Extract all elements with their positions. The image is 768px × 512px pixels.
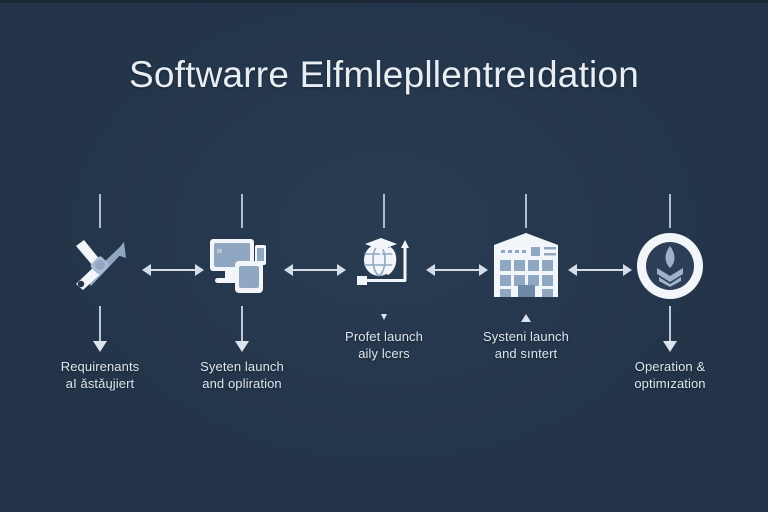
- leaf-badge-icon: [628, 228, 712, 304]
- flow-node-label: Systeni launch and sıntert: [450, 328, 602, 362]
- label-line-2: and opliration: [166, 375, 318, 392]
- node-tick-up: [525, 194, 527, 228]
- label-line-2: aI ǎstǎųjiert: [24, 375, 176, 392]
- label-line-1: Syeten launch: [200, 359, 284, 374]
- label-line-1: Operation &: [635, 359, 705, 374]
- node-tick-up: [241, 194, 243, 228]
- label-line-1: Systeni launch: [483, 329, 569, 344]
- arrow-down-head-icon: [235, 341, 249, 352]
- flow-node-label: Profet launch aily lcers: [308, 328, 460, 362]
- process-flow: Requirenants aI ǎstǎųjiert: [0, 186, 768, 436]
- crossed-tools-icon: [58, 228, 142, 304]
- label-line-2: optimızation: [594, 375, 746, 392]
- flow-node-requirements[interactable]: Requirenants aI ǎstǎųjiert: [30, 186, 170, 436]
- arrow-down-head-icon: [663, 341, 677, 352]
- arrow-up-head-icon: [521, 314, 531, 322]
- node-tick-down: [241, 306, 243, 344]
- office-building-icon: [484, 228, 568, 304]
- label-line-2: aily lcers: [308, 345, 460, 362]
- node-tick-down: [99, 306, 101, 344]
- node-tick-up: [383, 194, 385, 228]
- label-line-2: and sıntert: [450, 345, 602, 362]
- node-tick-up: [99, 194, 101, 228]
- flow-node-office[interactable]: Systeni launch and sıntert: [456, 186, 596, 436]
- arrow-down-head-icon: [381, 314, 387, 320]
- label-line-1: Requirenants: [61, 359, 140, 374]
- page-title: Softwarre Elfmlepllentreıdation: [0, 52, 768, 98]
- flow-node-label: Requirenants aI ǎstǎųjiert: [24, 358, 176, 392]
- flow-node-project-launch[interactable]: Profet launch aily lcers: [314, 186, 454, 436]
- desktop-tablet-icon: [200, 228, 284, 304]
- node-tick-down: [669, 306, 671, 344]
- label-line-1: Profet launch: [345, 329, 423, 344]
- node-tick-up: [669, 194, 671, 228]
- flow-node-label: Operation & optimızation: [594, 358, 746, 392]
- flow-node-label: Syeten launch and opliration: [166, 358, 318, 392]
- infographic-stage: Softwarre Elfmlepllentreıdation: [0, 0, 768, 512]
- globe-graduation-axis-icon: [342, 228, 426, 304]
- flow-node-system-launch[interactable]: Syeten launch and opliration: [172, 186, 312, 436]
- flow-node-operation[interactable]: Operation & optimızation: [600, 186, 740, 436]
- arrow-down-head-icon: [93, 341, 107, 352]
